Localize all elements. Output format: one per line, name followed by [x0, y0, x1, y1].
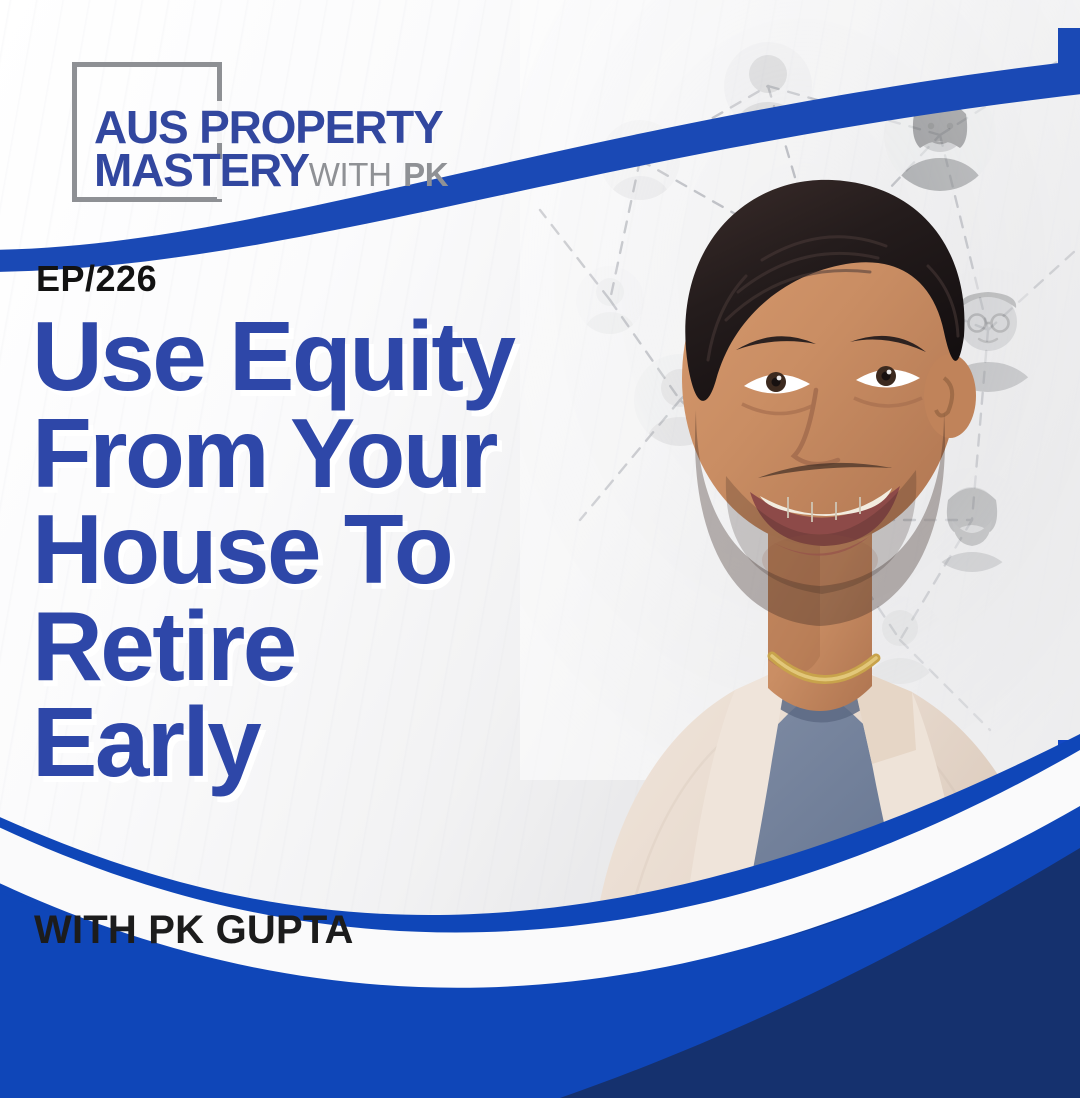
logo-wordmark: AUS PROPERTY MASTERYWITH PK — [94, 106, 448, 192]
logo-line-1: AUS PROPERTY — [94, 106, 448, 149]
right-edge-band-top — [1058, 28, 1080, 80]
right-lapel — [850, 666, 988, 1060]
host-credit: WITH PK GUPTA — [34, 908, 354, 953]
brand-logo[interactable]: AUS PROPERTY MASTERYWITH PK — [72, 62, 222, 202]
right-eyebrow — [850, 336, 926, 352]
neck — [768, 530, 872, 711]
left-eyebrow — [736, 336, 816, 350]
episode-number: EP/226 — [36, 258, 157, 300]
podcast-cover-art: AUS PROPERTY MASTERYWITH PK EP/226 Use E… — [0, 0, 1080, 1098]
episode-title: Use Equity From Your House To Retire Ear… — [32, 308, 692, 791]
nose — [794, 390, 838, 464]
right-eye — [856, 369, 920, 387]
logo-pk-text: PK — [403, 156, 448, 193]
hair — [685, 180, 964, 401]
beard — [695, 410, 945, 626]
tshirt — [712, 696, 946, 1060]
face — [682, 210, 958, 546]
mouth — [750, 486, 900, 546]
ear — [924, 354, 976, 438]
gold-chain — [772, 656, 876, 680]
logo-line-2: MASTERY — [94, 144, 309, 196]
left-eye — [744, 374, 810, 393]
teeth — [760, 488, 892, 516]
logo-with-text: WITH — [309, 156, 392, 193]
right-edge-band-bottom — [1058, 740, 1080, 930]
